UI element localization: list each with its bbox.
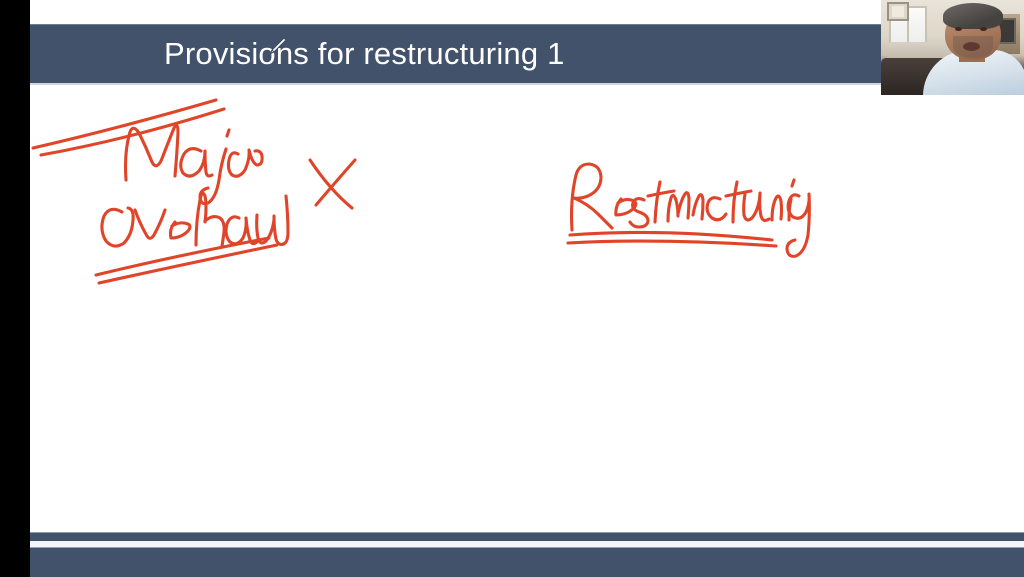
presenter-video-tile[interactable] [881,0,1024,95]
presenter-eye-left [955,27,962,31]
slide-footer-bar [30,547,1024,577]
presenter-eye-right [980,27,987,31]
picture-frame-inner [892,6,904,17]
page-title: Provisions for restructuring 1 [164,36,565,72]
screen-share-viewport: Provisions for restructuring 1 [0,0,1024,576]
presenter-hair [943,3,1003,29]
picture-frame-decor [887,2,909,21]
slide-title-bar: Provisions for restructuring 1 [30,24,1024,83]
slide-canvas[interactable] [30,0,1024,576]
presenter-mouth [963,42,980,51]
